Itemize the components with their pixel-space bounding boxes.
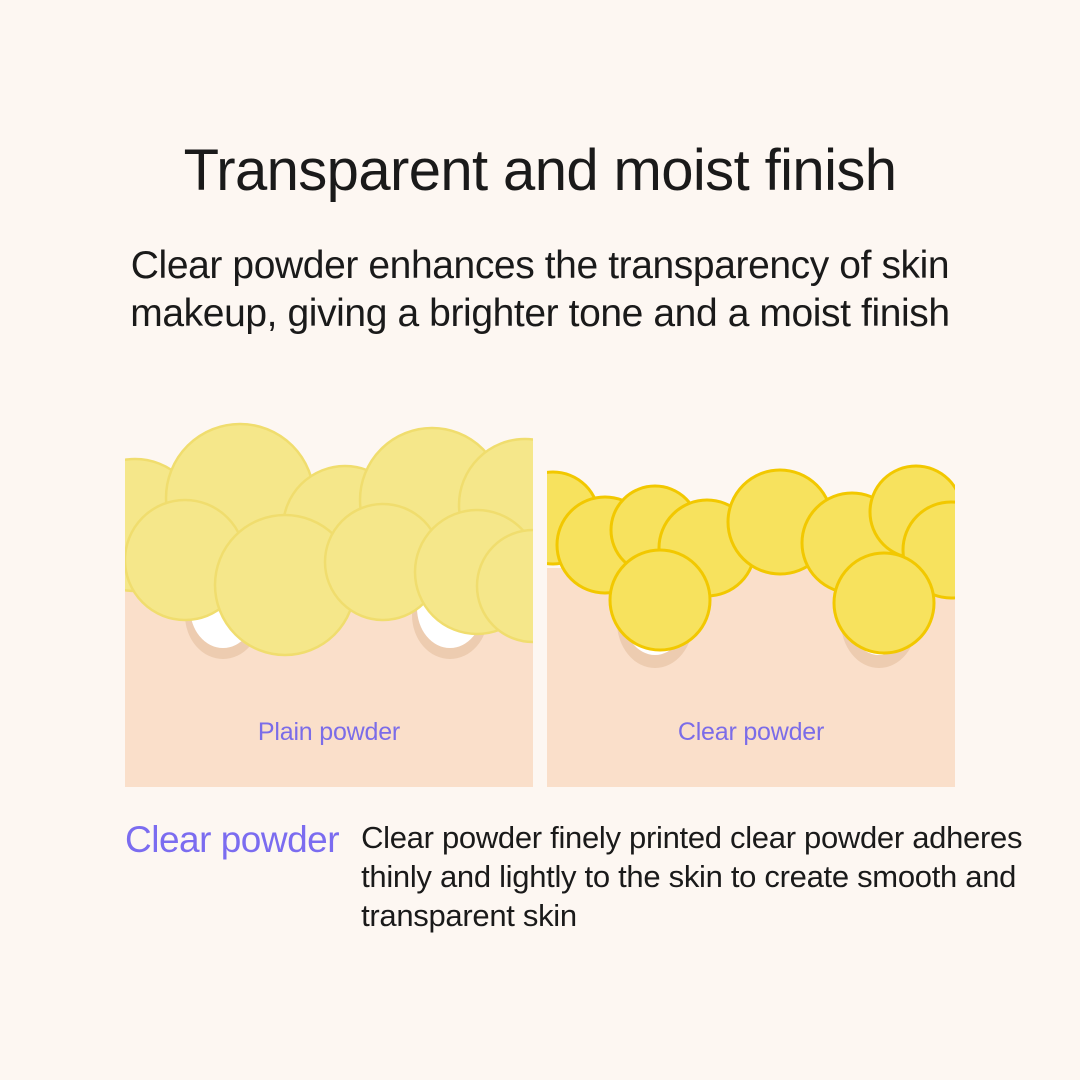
footer-body-text: Clear powder finely printed clear powder… — [361, 818, 1026, 935]
page-title: Transparent and moist finish — [0, 140, 1080, 203]
clear-powder-diagram — [547, 400, 955, 787]
footer-title: Clear powder — [125, 818, 339, 858]
page-subtitle: Clear powder enhances the transparency o… — [110, 242, 970, 337]
footer-description: Clear powder Clear powder finely printed… — [125, 818, 1060, 935]
panel-plain-powder: Plain powder — [125, 400, 533, 787]
plain-powder-diagram — [125, 400, 533, 787]
comparison-illustration: Plain powder — [125, 400, 955, 790]
panel-clear-powder: Clear powder — [547, 400, 955, 787]
infographic-page: Transparent and moist finish Clear powde… — [0, 0, 1080, 1080]
